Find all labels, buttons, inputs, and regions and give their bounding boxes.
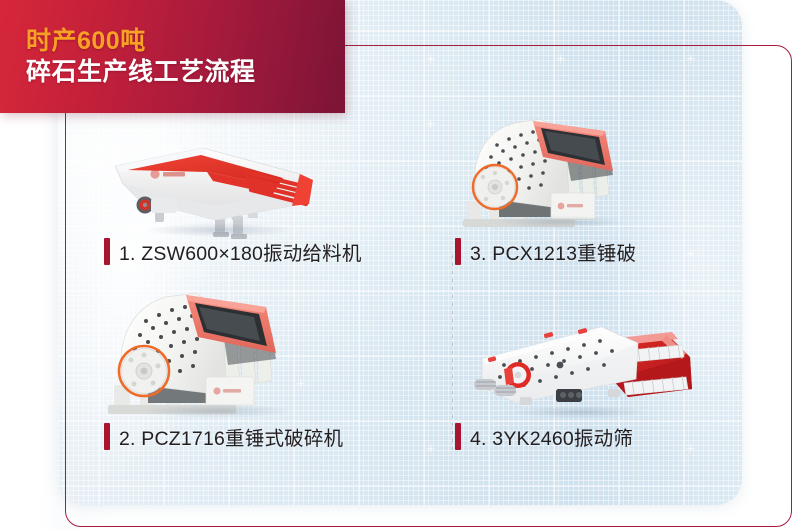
product-shadow xyxy=(465,213,655,231)
caption-accent-bar xyxy=(455,423,461,450)
product-label-1: 1. ZSW600×180振动给料机 xyxy=(119,237,362,266)
banner-title-line1: 时产600吨 xyxy=(26,26,345,57)
product-item-1[interactable] xyxy=(95,128,345,238)
hammer-crusher-icon xyxy=(100,283,345,419)
product-item-4[interactable] xyxy=(460,305,705,420)
poster-canvas: 时产600吨 碎石生产线工艺流程 xyxy=(0,0,800,530)
product-label-3: 3. PCX1213重锤破 xyxy=(470,237,636,266)
caption-accent-bar xyxy=(104,238,110,265)
product-caption-3: 3. PCX1213重锤破 xyxy=(455,237,636,266)
product-caption-1: 1. ZSW600×180振动给料机 xyxy=(104,237,362,266)
product-shadow xyxy=(110,401,325,421)
caption-accent-bar xyxy=(104,423,110,450)
product-label-4: 4. 3YK2460振动筛 xyxy=(470,422,633,451)
column-divider xyxy=(452,255,453,455)
product-item-3[interactable] xyxy=(455,105,675,230)
product-label-2: 2. PCZ1716重锤式破碎机 xyxy=(119,422,343,451)
banner-title-line2: 碎石生产线工艺流程 xyxy=(26,57,345,88)
product-item-2[interactable] xyxy=(100,283,345,418)
title-banner: 时产600吨 碎石生产线工艺流程 xyxy=(0,0,345,113)
caption-accent-bar xyxy=(455,238,461,265)
product-caption-4: 4. 3YK2460振动筛 xyxy=(455,422,633,451)
product-caption-2: 2. PCZ1716重锤式破碎机 xyxy=(104,422,343,451)
product-shadow xyxy=(480,403,680,421)
